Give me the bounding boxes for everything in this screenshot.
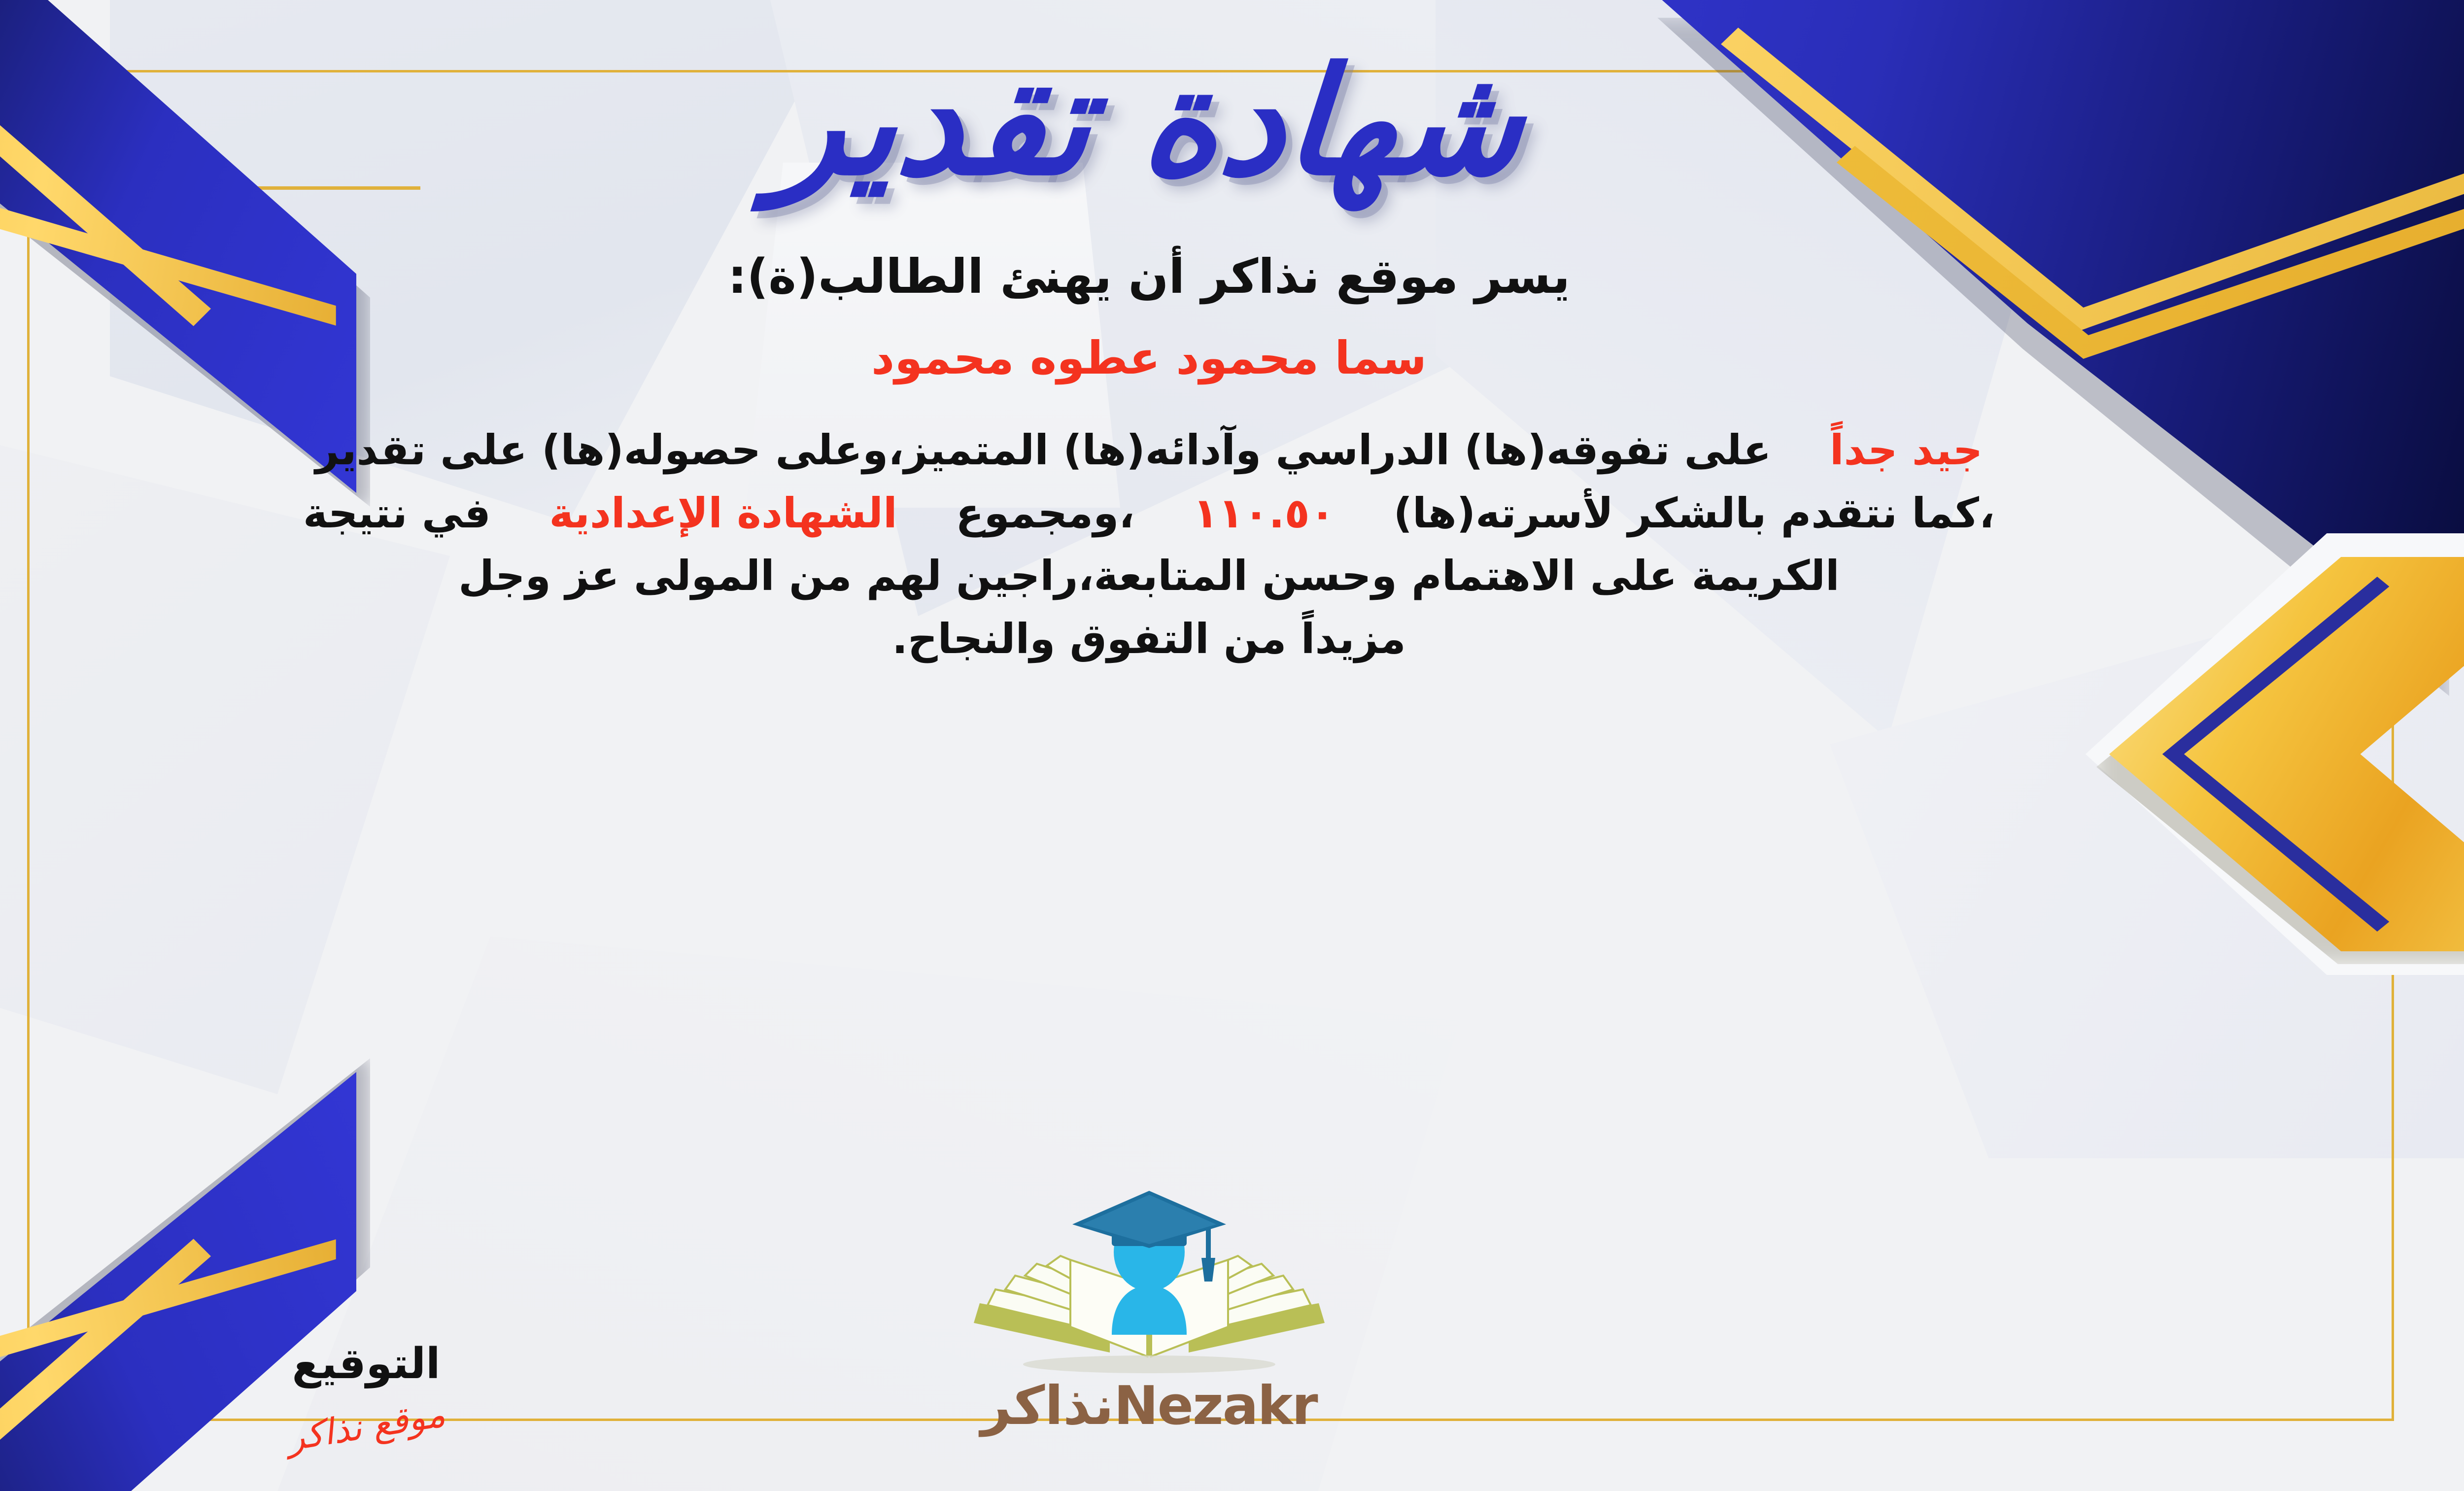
student-name: سما محمود عطوه محمود bbox=[871, 332, 1427, 384]
body-line-3: الكريمة على الاهتمام وحسن المتابعة،راجين… bbox=[66, 545, 2232, 608]
certificate-canvas: شهادة تقدير يسر موقع نذاكر أن يهنئ الطال… bbox=[0, 0, 2464, 1491]
body-line-2-prefix: في نتيجة bbox=[303, 489, 491, 537]
signature-block: التوقيع موقع نذاكر bbox=[208, 1339, 524, 1447]
total-score-value: ١١٠.٥٠ bbox=[1193, 489, 1335, 537]
exam-name-value: الشهادة الإعدادية bbox=[549, 489, 897, 537]
body-line-1-text: على تفوقه(ها) الدراسي وآدائه(ها) المتميز… bbox=[315, 426, 1772, 474]
grade-value: جيد جداً bbox=[1830, 426, 1983, 474]
graduate-book-logo-icon bbox=[962, 1187, 1336, 1384]
body-line-2-mid: ،ومجموع bbox=[956, 489, 1134, 537]
body-line-1: جيد جداً على تفوقه(ها) الدراسي وآدائه(ها… bbox=[66, 419, 2232, 482]
signature-label: التوقيع bbox=[208, 1339, 524, 1388]
logo-wordmark: Nezakrنذاكر bbox=[947, 1375, 1351, 1437]
body-line-2-suffix: ،كما نتقدم بالشكر لأسرته(ها) bbox=[1394, 489, 1995, 537]
certificate-body: جيد جداً على تفوقه(ها) الدراسي وآدائه(ها… bbox=[66, 419, 2232, 671]
brand-logo: Nezakrنذاكر bbox=[947, 1187, 1351, 1437]
body-line-2: ،كما نتقدم بالشكر لأسرته(ها) ١١٠.٥٠ ،ومج… bbox=[66, 482, 2232, 545]
congratulation-line: يسر موقع نذاكر أن يهنئ الطالب(ة): bbox=[728, 249, 1570, 304]
certificate-title: شهادة تقدير bbox=[769, 44, 1528, 200]
body-line-4: مزيداً من التفوق والنجاح. bbox=[66, 608, 2232, 671]
